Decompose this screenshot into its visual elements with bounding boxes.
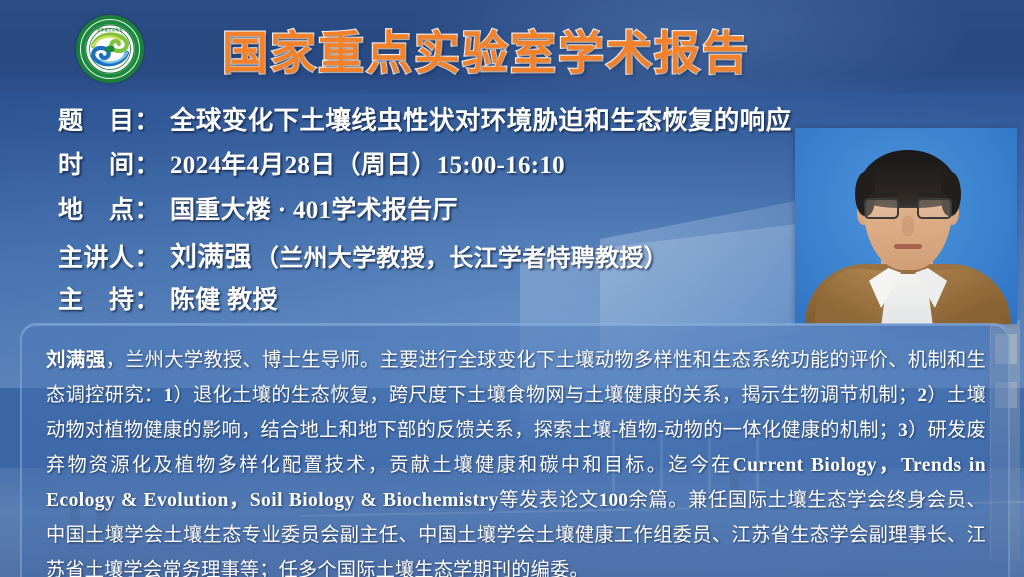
speaker-name: 刘满强 bbox=[170, 242, 255, 272]
info-value-place: 国重大楼 · 401学术报告厅 bbox=[170, 190, 458, 226]
info-label-host: 主 持： bbox=[58, 280, 170, 316]
info-row-speaker: 主讲人： 刘满强（兰州大学教授，长江学者特聘教授） bbox=[58, 235, 858, 280]
info-row-time: 时 间： 2024年4月28日（周日）15:00-16:10 bbox=[58, 145, 858, 190]
info-value-topic: 全球变化下土壤线虫性状对环境胁迫和生态恢复的响应 bbox=[170, 100, 792, 137]
speaker-portrait bbox=[795, 128, 1017, 324]
speaker-bio-text: 刘满强，兰州大学教授、博士生导师。主要进行全球变化下土壤动物多样性和生态系统功能… bbox=[46, 342, 986, 577]
info-row-place: 地 点： 国重大楼 · 401学术报告厅 bbox=[58, 190, 858, 235]
speaker-bio-panel: 刘满强，兰州大学教授、博士生导师。主要进行全球变化下土壤动物多样性和生态系统功能… bbox=[20, 323, 1010, 577]
national-key-lab-logo-icon: 国家重点实验室 bbox=[76, 15, 144, 83]
logo-arc-text: 国家重点实验室 bbox=[97, 27, 123, 32]
info-label-topic: 题 目： bbox=[58, 101, 170, 137]
info-row-host: 主 持： 陈健 教授 bbox=[58, 280, 858, 325]
info-value-host: 陈健 教授 bbox=[170, 280, 278, 316]
page-title: 国家重点实验室学术报告 bbox=[222, 17, 750, 83]
info-label-time: 时 间： bbox=[58, 145, 170, 181]
seminar-poster: 国家重点实验室 国家重点实验室学术报告 题 目： 全球变化下土壤线虫性状对环境胁… bbox=[0, 0, 1024, 577]
info-row-topic: 题 目： 全球变化下土壤线虫性状对环境胁迫和生态恢复的响应 bbox=[58, 100, 858, 145]
info-block: 题 目： 全球变化下土壤线虫性状对环境胁迫和生态恢复的响应 时 间： 2024年… bbox=[58, 100, 858, 325]
info-label-place: 地 点： bbox=[58, 190, 170, 226]
info-label-speaker: 主讲人： bbox=[58, 238, 170, 274]
speaker-affiliation: （兰州大学教授，长江学者特聘教授） bbox=[255, 246, 668, 272]
info-value-time: 2024年4月28日（周日）15:00-16:10 bbox=[170, 145, 565, 181]
info-value-speaker: 刘满强（兰州大学教授，长江学者特聘教授） bbox=[170, 235, 668, 274]
